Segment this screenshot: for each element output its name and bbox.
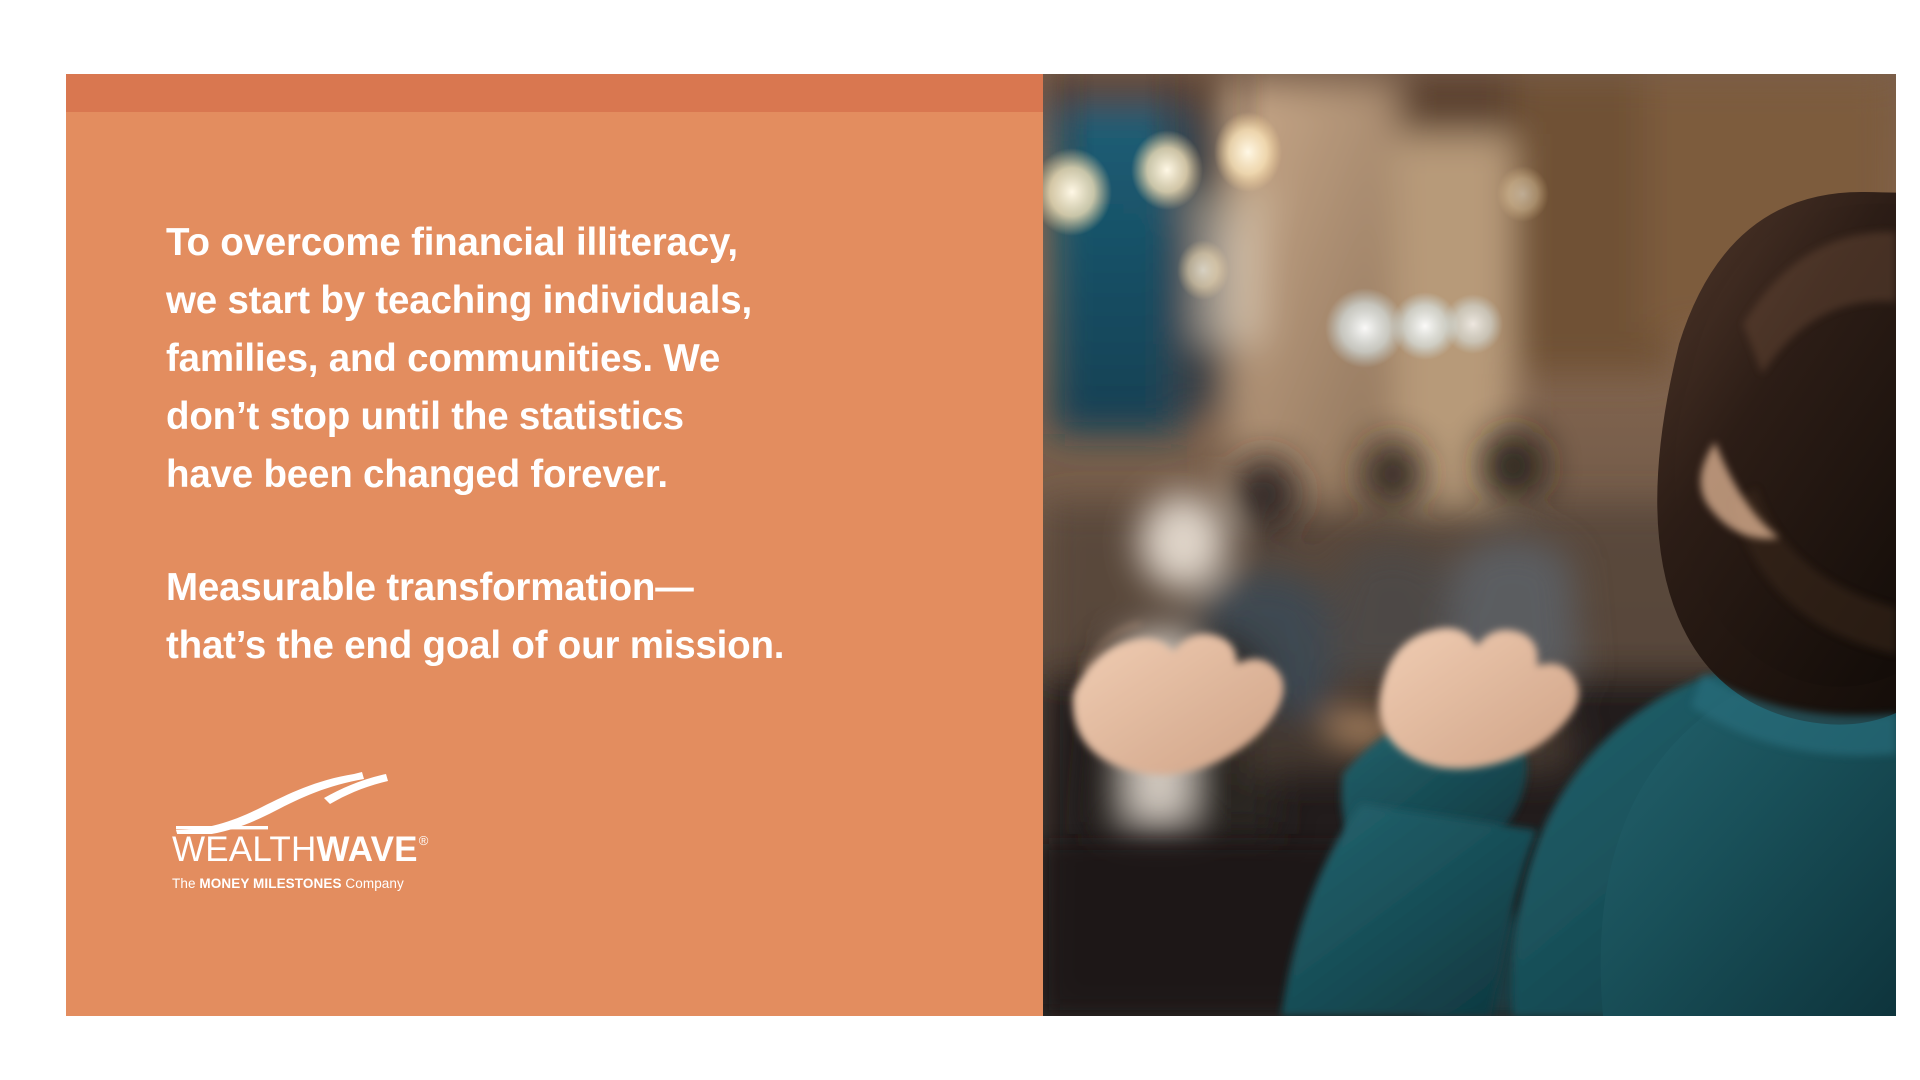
- wealthwave-wordmark: WEALTH WAVE ®: [172, 832, 446, 867]
- wealthwave-swoosh-icon: [176, 772, 388, 834]
- left-orange-panel: To overcome financial illiteracy, we sta…: [66, 74, 1043, 1016]
- tagline-suffix: Company: [342, 876, 404, 891]
- slide-card: To overcome financial illiteracy, we sta…: [66, 74, 1896, 1016]
- mission-text-block: To overcome financial illiteracy, we sta…: [166, 214, 966, 675]
- wealthwave-logo: WEALTH WAVE ® The MONEY MILESTONES Compa…: [166, 772, 446, 891]
- logo-tagline: The MONEY MILESTONES Company: [172, 876, 446, 891]
- speaker-photo: [1043, 74, 1896, 1016]
- wordmark-wealth: WEALTH: [172, 832, 316, 867]
- tagline-prefix: The: [172, 876, 199, 891]
- top-accent-bar: [66, 74, 1043, 112]
- slide-canvas: To overcome financial illiteracy, we sta…: [0, 0, 1920, 1080]
- mission-paragraph-secondary: Measurable transformation— that’s the en…: [166, 559, 966, 675]
- tagline-bold: MONEY MILESTONES: [199, 876, 341, 891]
- speaker-photo-illustration: [1043, 74, 1896, 1016]
- registered-trademark-icon: ®: [419, 834, 429, 847]
- wordmark-wave: WAVE: [316, 832, 417, 867]
- mission-paragraph-primary: To overcome financial illiteracy, we sta…: [166, 214, 966, 504]
